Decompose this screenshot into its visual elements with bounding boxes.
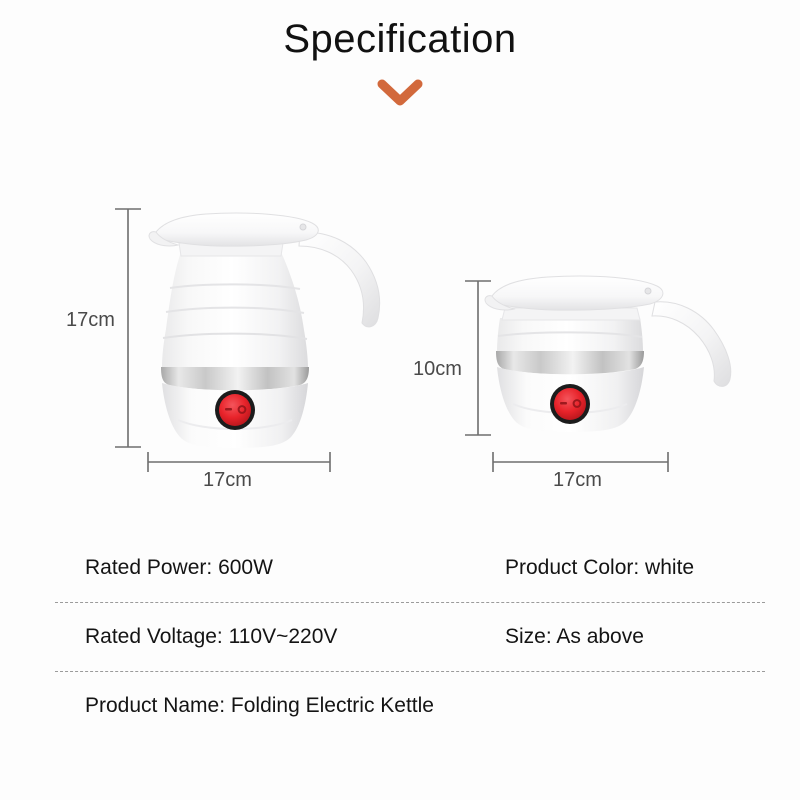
- dimension-label-width-collapsed: 17cm: [553, 469, 602, 492]
- spec-row: Product Name: Folding Electric Kettle: [55, 672, 765, 740]
- dimension-label-height-expanded: 17cm: [66, 309, 115, 332]
- kettle-collapsed-illustration: [485, 276, 731, 432]
- header: Specification: [0, 14, 800, 108]
- spec-size: Size: As above: [505, 625, 765, 649]
- dimension-label-height-collapsed: 10cm: [413, 358, 462, 381]
- spec-rated-power: Rated Power: 600W: [55, 556, 505, 580]
- kettle-expanded-illustration: [149, 213, 380, 448]
- spec-row: Rated Power: 600W Product Color: white: [55, 534, 765, 602]
- spec-table: Rated Power: 600W Product Color: white R…: [55, 534, 765, 740]
- page-title: Specification: [0, 14, 800, 64]
- specification-page: Specification: [0, 0, 800, 800]
- kettle-expanded-dimensions: [115, 209, 330, 472]
- power-switch-icon: [550, 384, 590, 424]
- power-switch-icon: [215, 390, 255, 430]
- spec-row: Rated Voltage: 110V~220V Size: As above: [55, 603, 765, 671]
- kettle-collapsed-dimensions: [465, 281, 668, 472]
- spec-product-color: Product Color: white: [505, 556, 765, 580]
- dimension-label-width-expanded: 17cm: [203, 469, 252, 492]
- chevron-down-icon: [0, 78, 800, 108]
- spec-product-name: Product Name: Folding Electric Kettle: [55, 672, 765, 718]
- spec-rated-voltage: Rated Voltage: 110V~220V: [55, 625, 505, 649]
